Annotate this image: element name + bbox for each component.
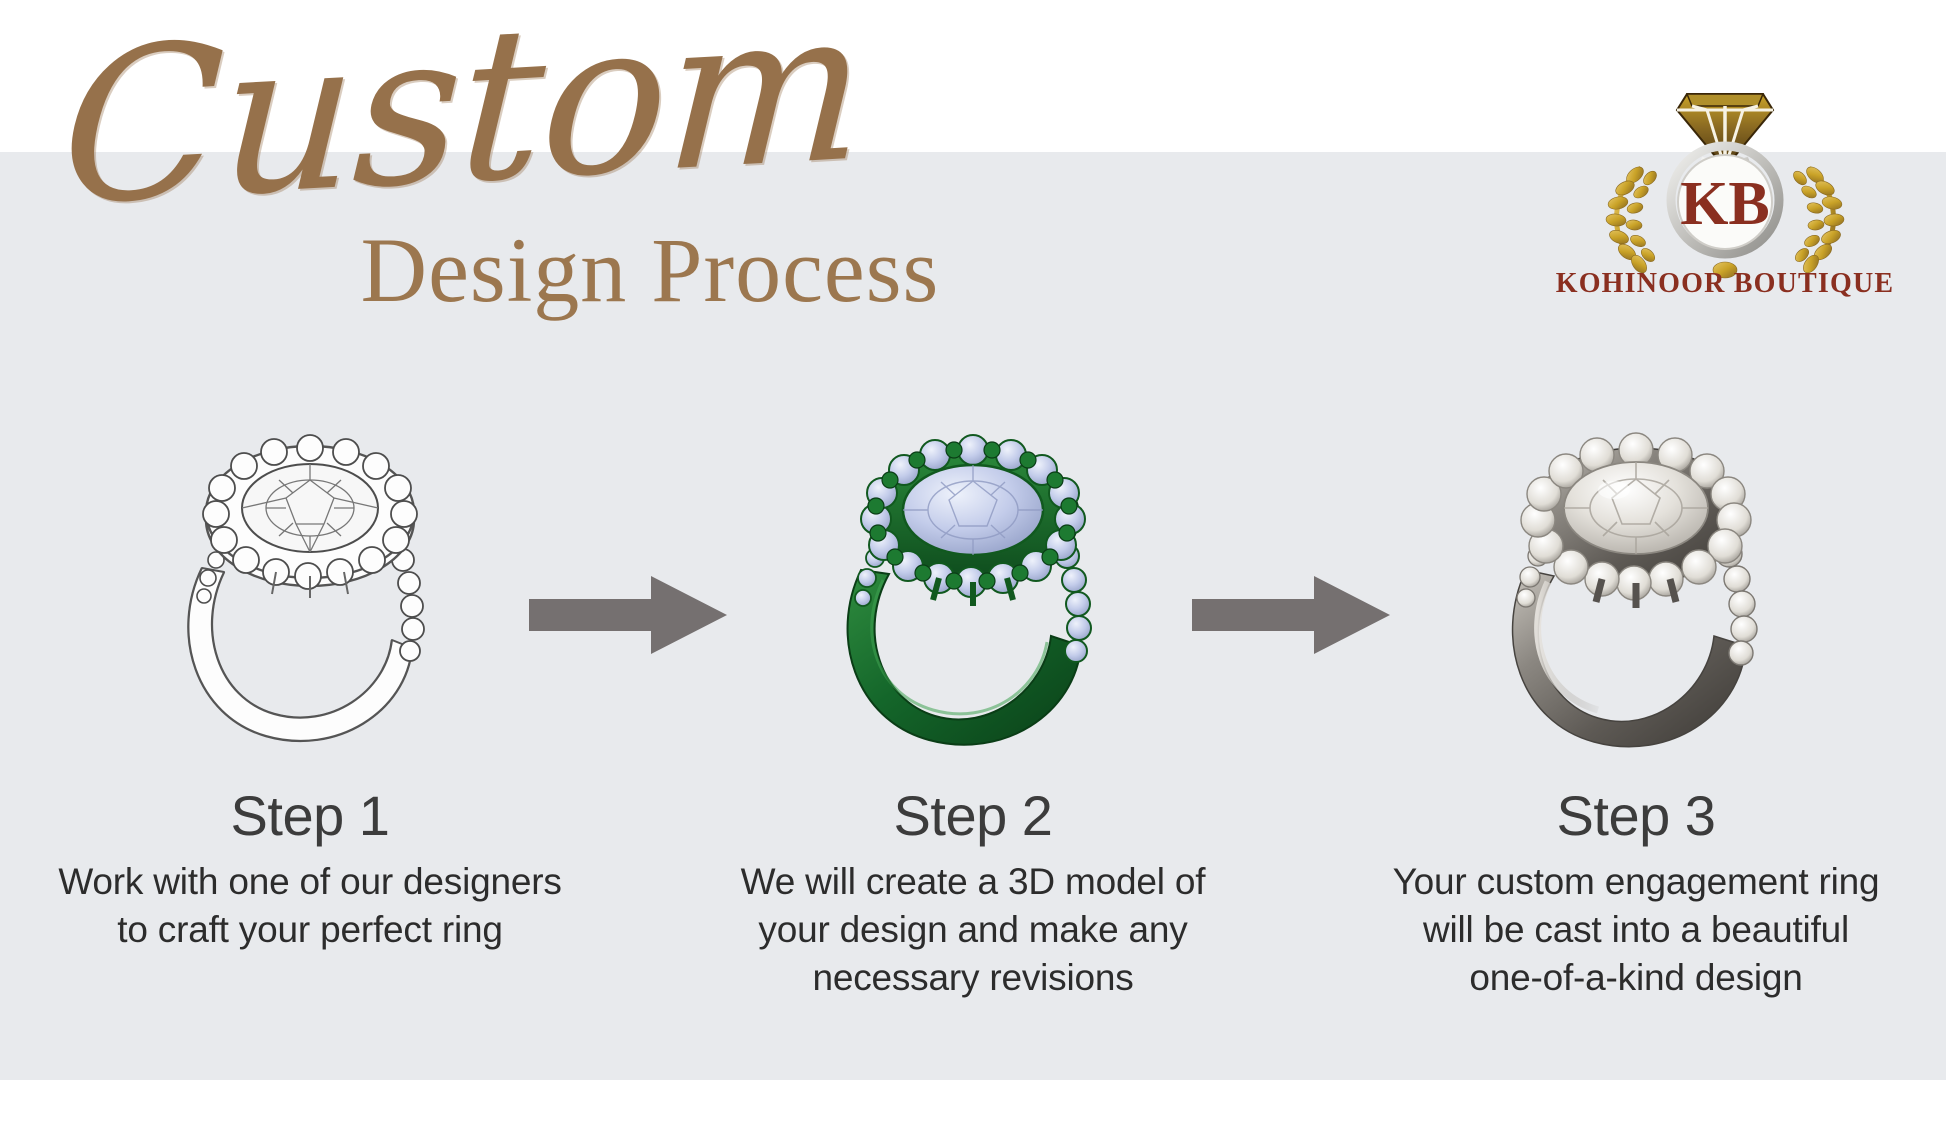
step-title: Step 3 [1336, 786, 1936, 846]
brand-logo: KB KOHINOOR BOUTIQUE [1555, 72, 1895, 310]
step-title: Step 1 [10, 786, 610, 846]
bottom-white-band [0, 1080, 1946, 1142]
headline-design-process: Design Process [0, 222, 1300, 318]
logo-mark: KB [1555, 72, 1895, 280]
step-description: Your custom engagement ring will be cast… [1336, 858, 1936, 1002]
step-description: We will create a 3D model of your design… [673, 858, 1273, 1002]
ring-finished-photograph [1486, 420, 1786, 750]
step-column-2: Step 2 We will create a 3D model of your… [673, 420, 1273, 1002]
step-description: Work with one of our designers to craft … [10, 858, 610, 954]
kb-monogram: KB [1680, 170, 1770, 238]
step-column-3: Step 3 Your custom engagement ring will … [1336, 420, 1936, 1002]
custom-design-process-infographic: Custom Design Process [0, 0, 1946, 1142]
ring-3d-model-green [823, 420, 1123, 750]
step-title: Step 2 [673, 786, 1273, 846]
step-column-1: Step 1 Work with one of our designers to… [10, 420, 610, 954]
brand-wordmark: KOHINOOR BOUTIQUE [1555, 268, 1895, 300]
steps-row: Step 1 Work with one of our designers to… [0, 420, 1946, 1080]
ring-sketch-cad-linework [160, 420, 460, 750]
